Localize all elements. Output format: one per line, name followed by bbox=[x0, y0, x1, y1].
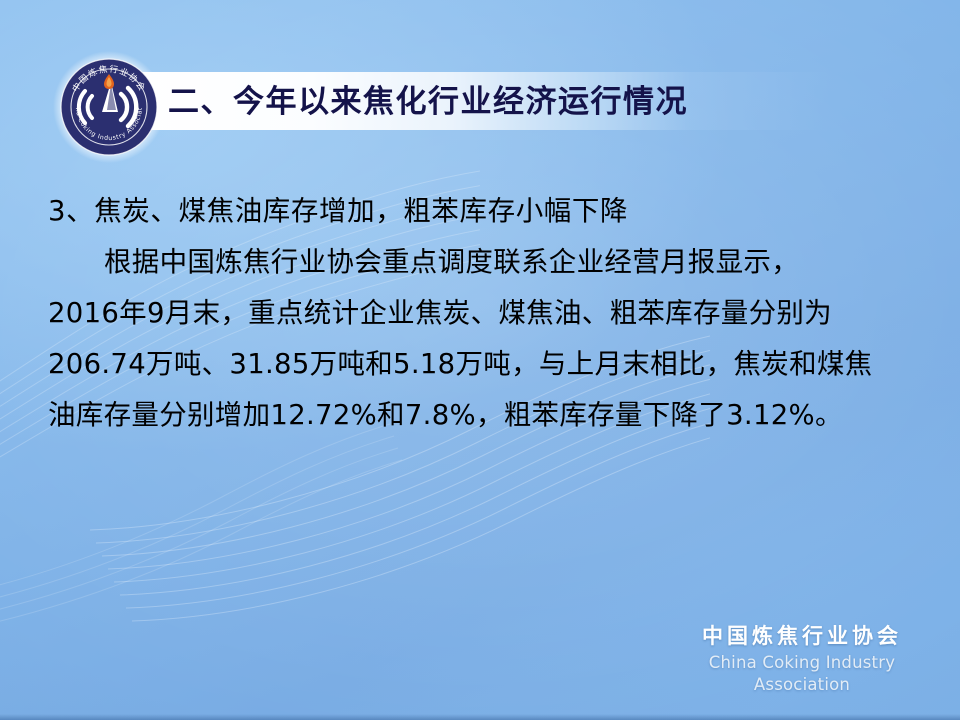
footer-branding: 中国炼焦行业协会 China Coking Industry Associati… bbox=[662, 622, 942, 696]
body-line-5: 油库存量分别增加12.72%和7.8%，粗苯库存量下降了3.12%。 bbox=[48, 390, 928, 441]
body-line-1: 3、焦炭、煤焦油库存增加，粗苯库存小幅下降 bbox=[48, 186, 928, 237]
body-line-3: 2016年9月末，重点统计企业焦炭、煤焦油、粗苯库存量分别为 bbox=[48, 288, 928, 339]
footer-name-cn: 中国炼焦行业协会 bbox=[662, 622, 942, 650]
footer-name-en: China Coking Industry Association bbox=[662, 652, 942, 696]
body-line-4: 206.74万吨、31.85万吨和5.18万吨，与上月末相比，焦炭和煤焦 bbox=[48, 339, 928, 390]
slide-body-text: 3、焦炭、煤焦油库存增加，粗苯库存小幅下降 根据中国炼焦行业协会重点调度联系企业… bbox=[48, 186, 928, 441]
body-line-2: 根据中国炼焦行业协会重点调度联系企业经营月报显示， bbox=[48, 237, 928, 288]
page-title: 二、今年以来焦化行业经济运行情况 bbox=[168, 76, 908, 128]
slide-bottom-edge bbox=[0, 714, 960, 720]
association-logo: 中国炼焦行业协会 China Coking Industry Associati… bbox=[52, 50, 166, 164]
presentation-slide: 二、今年以来焦化行业经济运行情况 中国炼焦行业协会 China Cok bbox=[0, 0, 960, 720]
